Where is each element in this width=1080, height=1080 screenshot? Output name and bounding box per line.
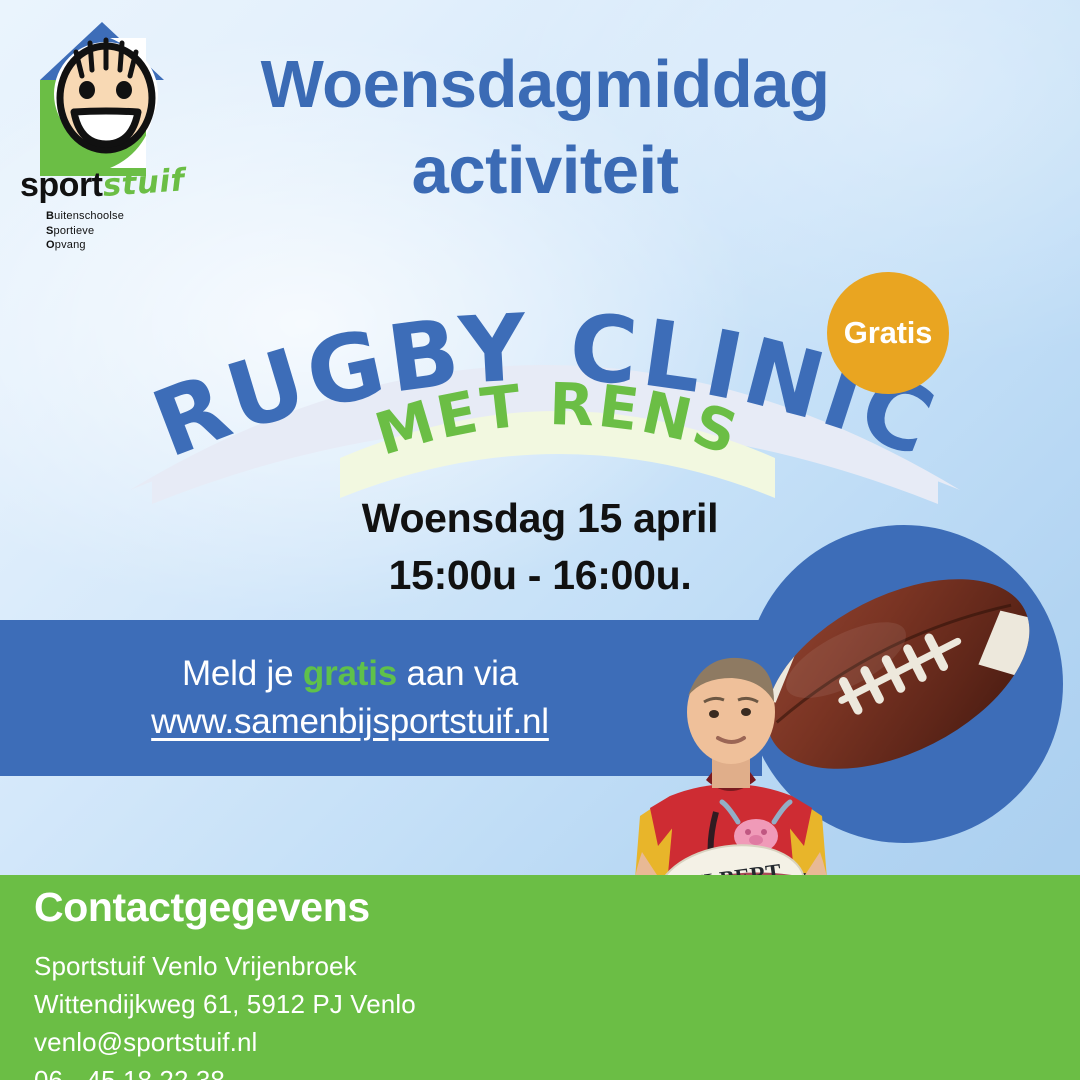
- signup-line-1: Meld je gratis aan via: [0, 650, 700, 698]
- logo-word-sport: sport: [20, 168, 103, 202]
- logo-sub1-initial: B: [46, 210, 54, 222]
- logo-word-stuif: stuif: [101, 162, 185, 204]
- page-title: Woensdagmiddag activiteit: [200, 42, 890, 214]
- signup-suffix: aan via: [397, 654, 518, 693]
- gratis-badge-label: Gratis: [844, 315, 932, 351]
- logo-sub3-initial: O: [46, 239, 55, 251]
- logo-sub2-initial: S: [46, 225, 54, 237]
- sportstuif-house-smiley-logo: [14, 18, 194, 178]
- signup-line-2: www.samenbijsportstuif.nl: [0, 698, 700, 746]
- signup-prefix: Meld je: [182, 654, 303, 693]
- logo-subtitle: Buitenschoolse Sportieve Opvang: [46, 209, 200, 253]
- contact-line-email[interactable]: venlo@sportstuif.nl: [34, 1024, 416, 1062]
- poster-canvas: sportstuif Buitenschoolse Sportieve Opva…: [0, 0, 1080, 1080]
- logo-sub2-rest: portieve: [54, 225, 95, 237]
- signup-highlight: gratis: [303, 654, 397, 693]
- logo-sub1-rest: uitenschoolse: [54, 210, 124, 222]
- logo-sub3-rest: pvang: [55, 239, 86, 251]
- sportstuif-logo: sportstuif Buitenschoolse Sportieve Opva…: [14, 18, 194, 238]
- contact-line-address: Wittendijkweg 61, 5912 PJ Venlo: [34, 986, 416, 1024]
- contact-line-phone[interactable]: 06 - 45 18 22 38: [34, 1062, 416, 1080]
- page-title-line-1: Woensdagmiddag: [200, 42, 890, 128]
- event-date: Woensdag 15 april: [140, 490, 940, 547]
- status-badge-gratis: Gratis: [827, 272, 949, 394]
- contact-details: Sportstuif Venlo Vrijenbroek Wittendijkw…: [34, 948, 416, 1080]
- contact-line-location: Sportstuif Venlo Vrijenbroek: [34, 948, 416, 986]
- contact-heading: Contactgegevens: [34, 884, 370, 931]
- logo-wordmark: sportstuif Buitenschoolse Sportieve Opva…: [20, 168, 200, 253]
- page-title-line-2: activiteit: [200, 128, 890, 214]
- signup-url-link[interactable]: www.samenbijsportstuif.nl: [151, 698, 549, 746]
- signup-text: Meld je gratis aan via www.samenbijsport…: [0, 650, 700, 747]
